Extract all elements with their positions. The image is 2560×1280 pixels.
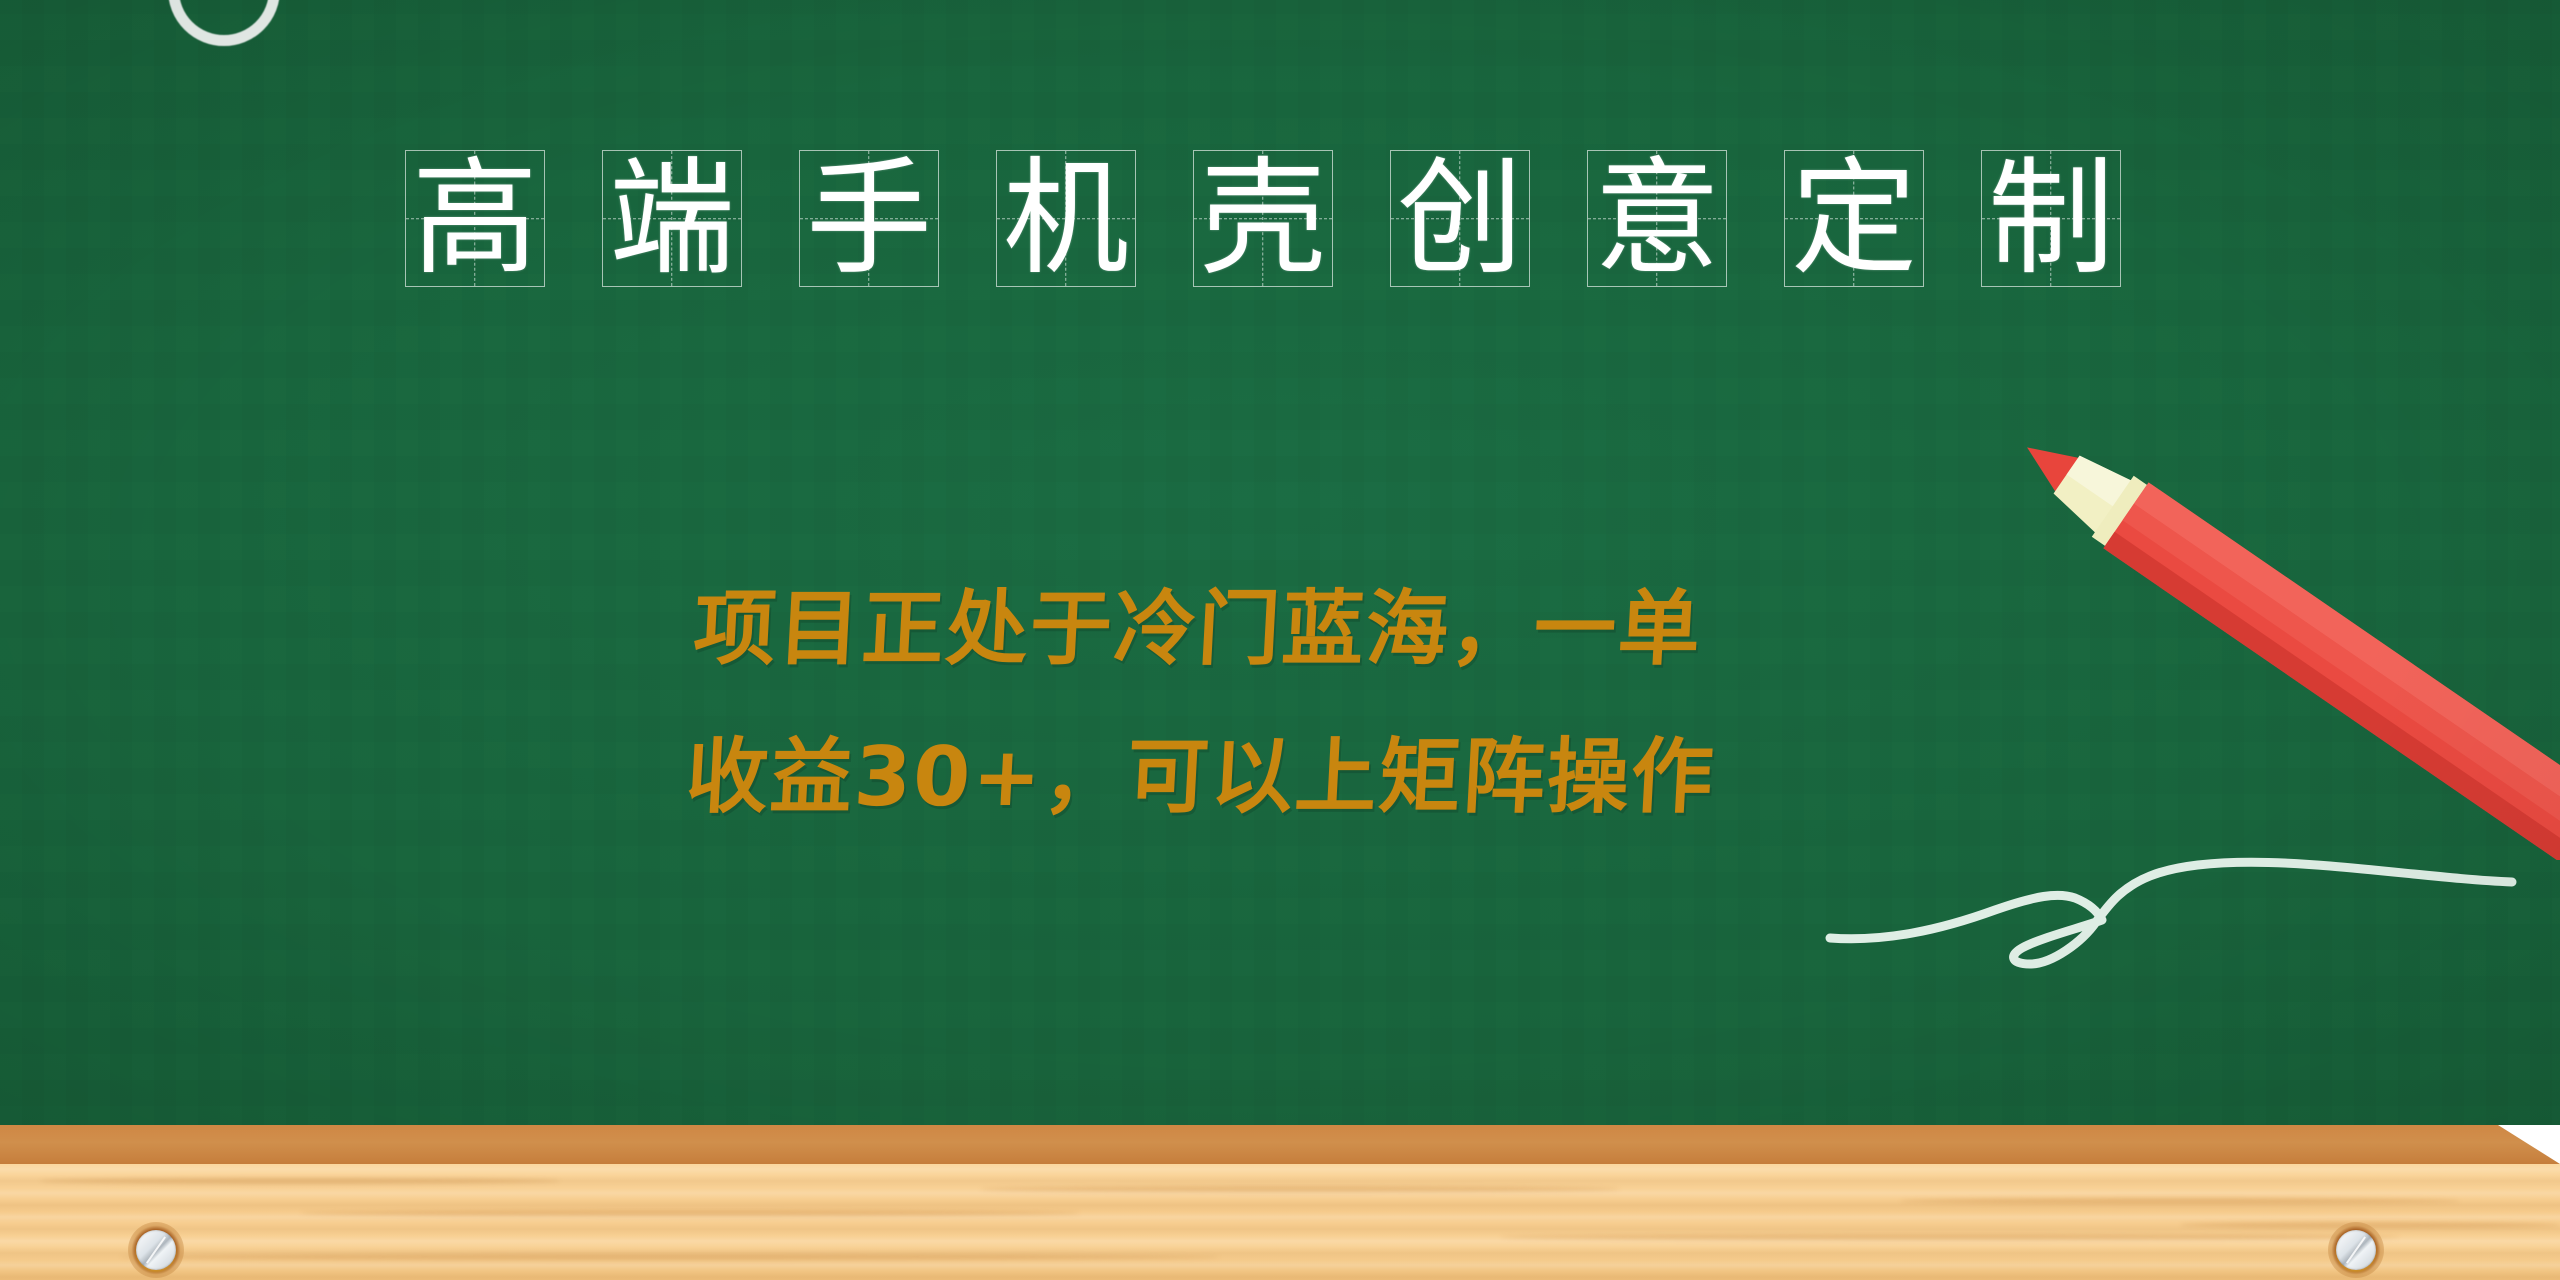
title-grid-cell-2: 端 bbox=[602, 150, 742, 287]
title-grid-cell-3: 手 bbox=[799, 150, 939, 287]
tray-screw-left bbox=[128, 1222, 184, 1278]
title-char-9: 制 bbox=[1982, 151, 2120, 286]
screw-head-icon bbox=[2336, 1230, 2376, 1270]
title-grid-cell-7: 意 bbox=[1587, 150, 1727, 287]
ledge-bevel bbox=[0, 1125, 2560, 1164]
title-char-4: 机 bbox=[997, 151, 1135, 286]
title-char-7: 意 bbox=[1588, 151, 1726, 286]
subtitle-line-1: 项目正处于冷门蓝海，一单 bbox=[690, 556, 2058, 704]
ledge-face bbox=[0, 1164, 2560, 1280]
wood-grain bbox=[1900, 1198, 2460, 1204]
title-char-1: 高 bbox=[406, 151, 544, 286]
subtitle-text: 项目正处于冷门蓝海，一单 收益30+，可以上矩阵操作 bbox=[682, 556, 2058, 852]
wood-grain bbox=[300, 1210, 1080, 1216]
title-char-8: 定 bbox=[1785, 151, 1923, 286]
chalk-circle-doodle-icon bbox=[168, 0, 280, 46]
wooden-chalk-tray bbox=[0, 1125, 2560, 1280]
page-title: 高 端 手 机 壳 创 意 定 制 bbox=[405, 150, 2121, 287]
title-grid-cell-5: 壳 bbox=[1193, 150, 1333, 287]
wood-grain bbox=[40, 1178, 560, 1184]
title-grid-cell-4: 机 bbox=[996, 150, 1136, 287]
red-pencil-icon bbox=[2020, 430, 2560, 860]
title-char-6: 创 bbox=[1391, 151, 1529, 286]
wood-grain bbox=[120, 1254, 1220, 1260]
title-grid-cell-6: 创 bbox=[1390, 150, 1530, 287]
title-grid-cell-8: 定 bbox=[1784, 150, 1924, 287]
tray-screw-right bbox=[2328, 1222, 2384, 1278]
title-char-5: 壳 bbox=[1194, 151, 1332, 286]
title-char-3: 手 bbox=[800, 151, 938, 286]
title-grid-cell-9: 制 bbox=[1981, 150, 2121, 287]
wood-grain bbox=[1500, 1234, 2400, 1240]
chalk-squiggle-doodle-icon bbox=[1790, 830, 2560, 1000]
screw-head-icon bbox=[136, 1230, 176, 1270]
title-char-2: 端 bbox=[603, 151, 741, 286]
wood-grain bbox=[980, 1186, 1620, 1192]
title-grid-cell-1: 高 bbox=[405, 150, 545, 287]
chalkboard: 高 端 手 机 壳 创 意 定 制 bbox=[0, 0, 2560, 1132]
poster-canvas: 高 端 手 机 壳 创 意 定 制 bbox=[0, 0, 2560, 1280]
